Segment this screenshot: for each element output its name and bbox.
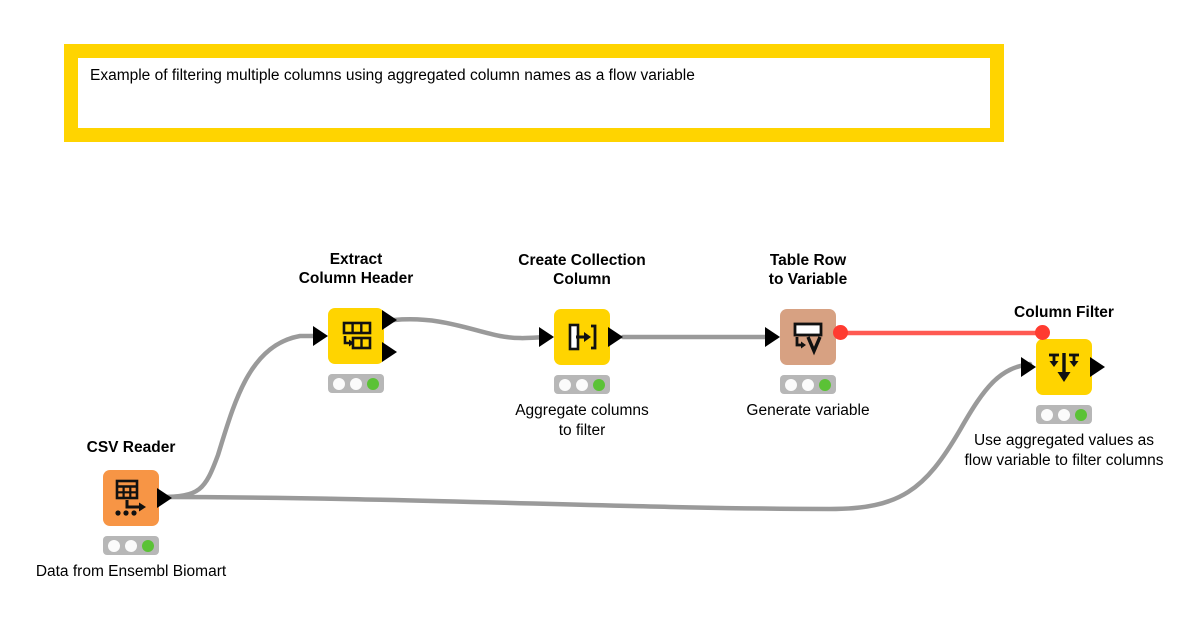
input-port-table-row-to-variable[interactable] <box>765 327 780 347</box>
status-lamp-idle <box>785 379 797 391</box>
node-body-create-collection-column[interactable] <box>554 309 610 365</box>
status-lamp-ok <box>142 540 154 552</box>
status-light-extract-column-header <box>328 374 384 393</box>
csv-reader-icon <box>103 470 159 526</box>
input-port-extract-column-header[interactable] <box>313 326 328 346</box>
output-port-csv-reader[interactable] <box>157 488 172 508</box>
status-lamp-ok <box>367 378 379 390</box>
node-caption-create-collection-column: Aggregate columns to filter <box>452 401 712 441</box>
status-lamp-ok <box>819 379 831 391</box>
status-lamp-idle <box>559 379 571 391</box>
connection-extractheader-to-createcollection <box>394 319 550 338</box>
node-body-table-row-to-variable[interactable] <box>780 309 836 365</box>
node-title-table-row-to-variable: Table Row to Variable <box>688 251 928 290</box>
status-lamp-warn <box>125 540 137 552</box>
status-lamp-warn <box>576 379 588 391</box>
node-title-create-collection-column: Create Collection Column <box>462 251 702 290</box>
node-caption-column-filter: Use aggregated values as flow variable t… <box>934 431 1194 471</box>
status-lamp-idle <box>333 378 345 390</box>
output-port-flow-variable-table-row-to-variable[interactable] <box>833 325 848 340</box>
status-lamp-warn <box>802 379 814 391</box>
status-lamp-ok <box>1075 409 1087 421</box>
status-lamp-ok <box>593 379 605 391</box>
node-caption-table-row-to-variable: Generate variable <box>678 401 938 421</box>
status-light-table-row-to-variable <box>780 375 836 394</box>
node-title-csv-reader: CSV Reader <box>11 438 251 457</box>
node-body-column-filter[interactable] <box>1036 339 1092 395</box>
output-port-create-collection-column[interactable] <box>608 327 623 347</box>
status-lamp-idle <box>108 540 120 552</box>
column-filter-icon <box>1036 339 1092 395</box>
status-lamp-idle <box>1041 409 1053 421</box>
node-title-extract-column-header: Extract Column Header <box>236 250 476 289</box>
status-light-create-collection-column <box>554 375 610 394</box>
node-title-column-filter: Column Filter <box>944 303 1184 322</box>
create-collection-column-icon <box>554 309 610 365</box>
node-body-extract-column-header[interactable] <box>328 308 384 364</box>
input-port-create-collection-column[interactable] <box>539 327 554 347</box>
status-lamp-warn <box>350 378 362 390</box>
output-port-column-filter[interactable] <box>1090 357 1105 377</box>
input-port-column-filter[interactable] <box>1021 357 1036 377</box>
output-port-extract-column-header-bottom[interactable] <box>382 342 397 362</box>
node-caption-csv-reader: Data from Ensembl Biomart <box>1 562 261 582</box>
status-lamp-warn <box>1058 409 1070 421</box>
connection-csvreader-to-extractheader <box>160 336 322 497</box>
output-port-extract-column-header-top[interactable] <box>382 310 397 330</box>
extract-column-header-icon <box>328 308 384 364</box>
node-body-csv-reader[interactable] <box>103 470 159 526</box>
status-light-column-filter <box>1036 405 1092 424</box>
workflow-canvas: Example of filtering multiple columns us… <box>0 0 1200 630</box>
table-row-to-variable-icon <box>780 309 836 365</box>
status-light-csv-reader <box>103 536 159 555</box>
input-port-flow-variable-column-filter[interactable] <box>1035 325 1050 340</box>
